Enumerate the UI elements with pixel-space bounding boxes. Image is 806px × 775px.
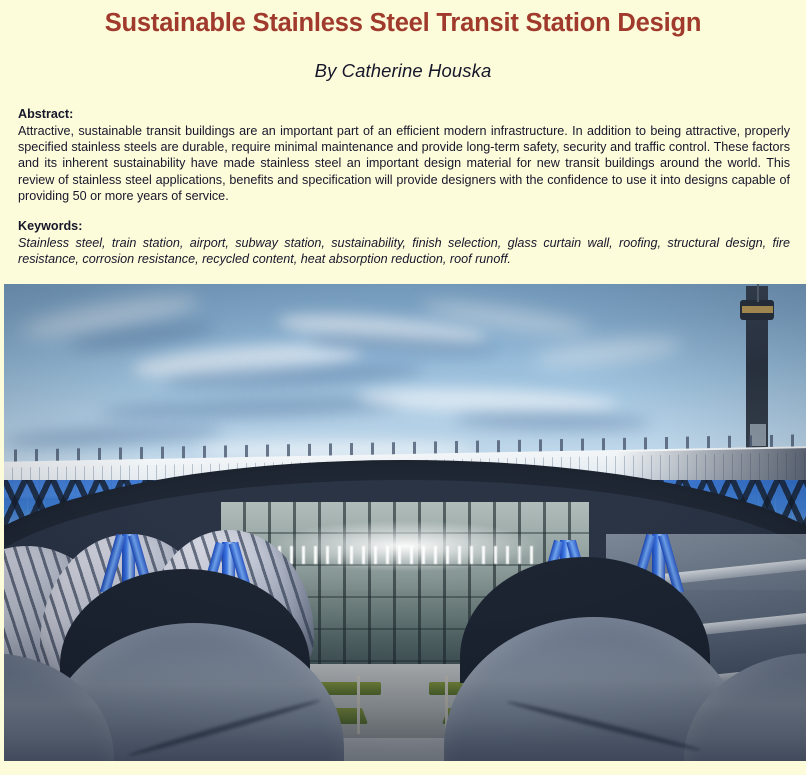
text-body: Abstract: Attractive, sustainable transi… <box>0 106 806 267</box>
abstract-label: Abstract: <box>18 106 790 122</box>
title-block: Sustainable Stainless Steel Transit Stat… <box>0 0 806 82</box>
document-page: Sustainable Stainless Steel Transit Stat… <box>0 0 806 775</box>
abstract-paragraph: Attractive, sustainable transit building… <box>18 123 790 204</box>
page-title: Sustainable Stainless Steel Transit Stat… <box>0 9 806 38</box>
keywords-section: Keywords: Stainless steel, train station… <box>18 218 790 267</box>
control-tower-mast <box>757 284 759 302</box>
abstract-section: Abstract: Attractive, sustainable transi… <box>18 106 790 204</box>
keywords-label: Keywords: <box>18 218 790 234</box>
photo-canvas <box>4 284 806 761</box>
control-tower-lights <box>742 306 773 313</box>
atrium-light-row <box>269 546 542 564</box>
plaza-walkway <box>357 676 360 734</box>
author-byline: By Catherine Houska <box>0 60 806 82</box>
figure-image <box>4 284 806 761</box>
keywords-paragraph: Stainless steel, train station, airport,… <box>18 235 790 268</box>
